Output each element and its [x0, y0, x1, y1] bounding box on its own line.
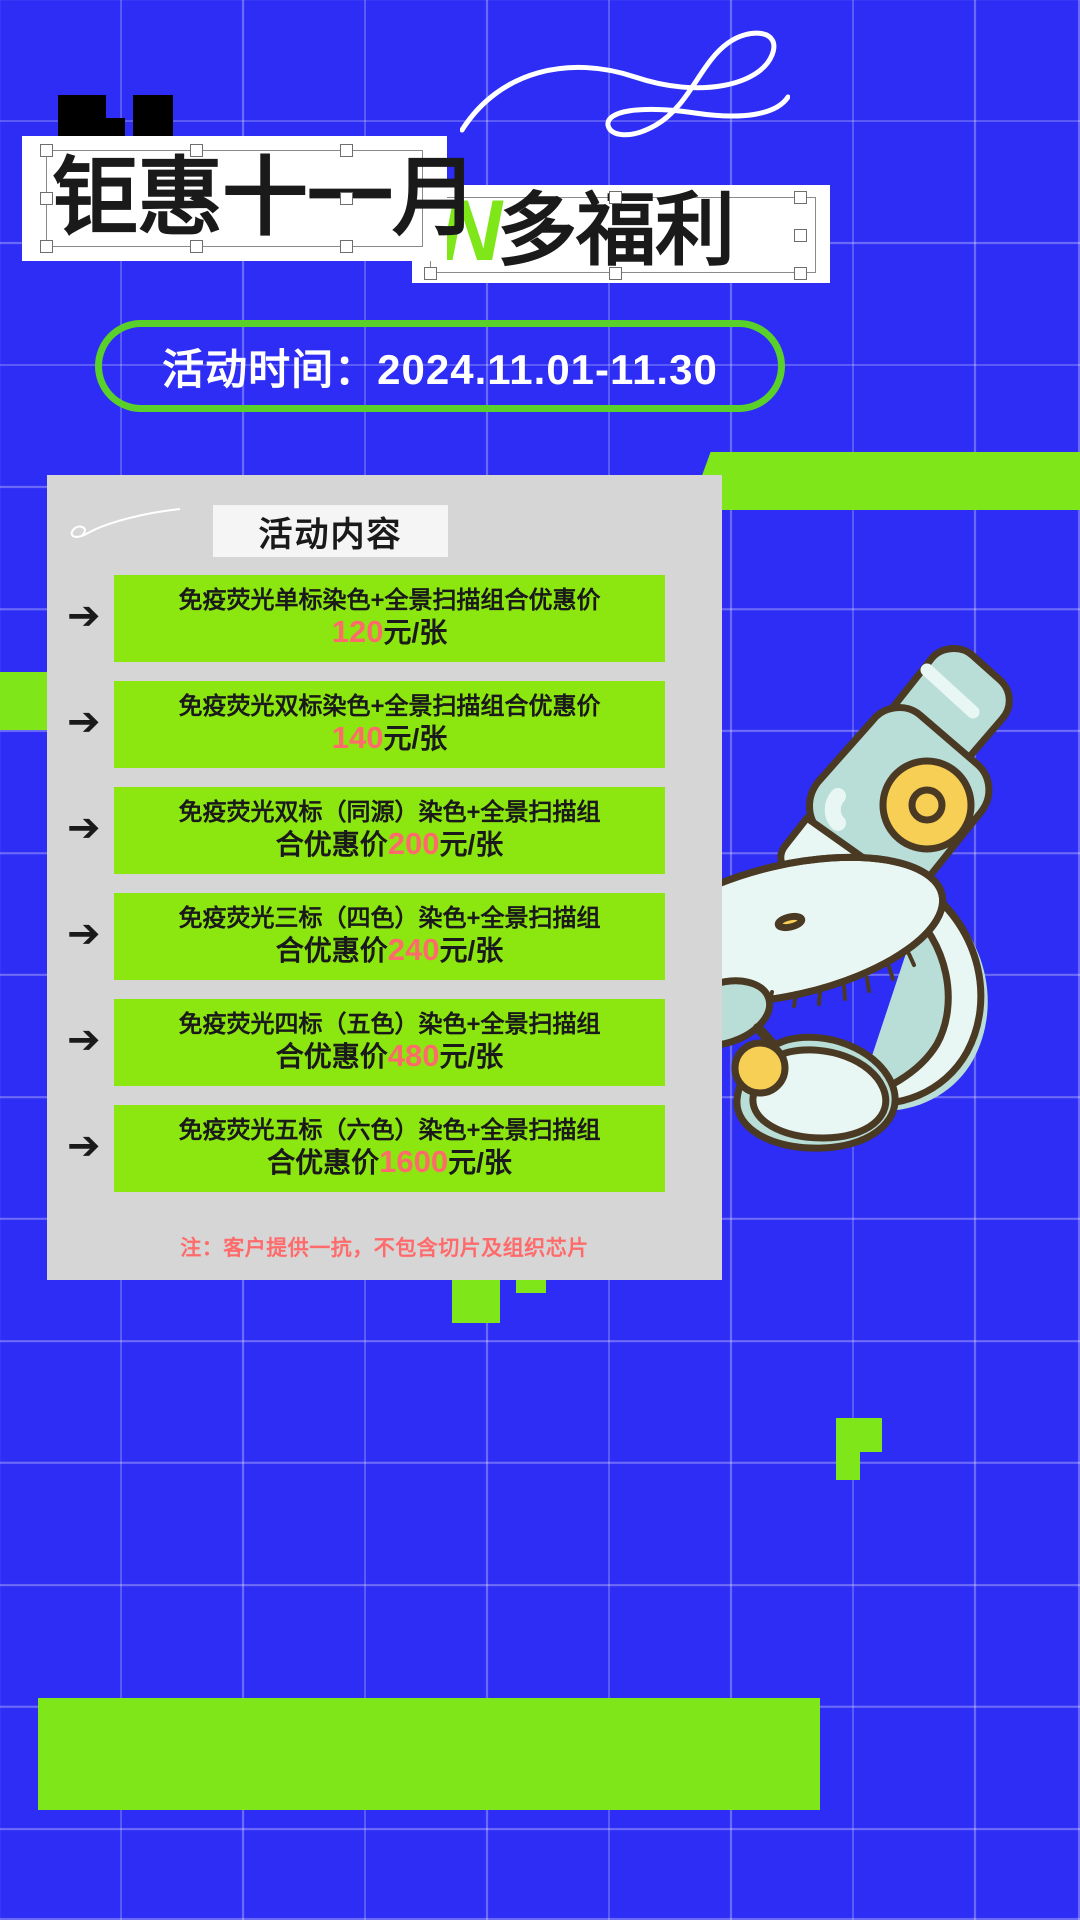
- offer-line1: 免疫荧光三标（四色）染色+全景扫描组: [178, 905, 600, 933]
- arrow-right-icon: ➔: [67, 1135, 111, 1161]
- offer-unit: 元/张: [383, 723, 447, 754]
- offer-pill[interactable]: 免疫荧光五标（六色）染色+全景扫描组 合优惠价1600元/张: [114, 1105, 665, 1192]
- offer-line1: 免疫荧光五标（六色）染色+全景扫描组: [178, 1117, 600, 1145]
- offer-price: 240: [388, 932, 440, 967]
- event-date-banner: 活动时间：2024.11.01-11.30: [95, 320, 785, 412]
- offer-line2: 120元/张: [332, 614, 448, 650]
- selection-handle[interactable]: [190, 144, 203, 157]
- offer-line2: 合优惠价240元/张: [276, 932, 504, 968]
- offer-price: 200: [388, 826, 440, 861]
- offer-line1: 免疫荧光双标（同源）染色+全景扫描组: [178, 799, 600, 827]
- offer-price: 120: [332, 614, 384, 649]
- selection-handle[interactable]: [794, 191, 807, 204]
- selection-handle[interactable]: [794, 229, 807, 242]
- headline-line2-wrap: N多福利: [440, 179, 830, 283]
- selection-handle[interactable]: [424, 267, 437, 280]
- offer-unit: 元/张: [439, 829, 503, 860]
- offer-row[interactable]: ➔ 免疫荧光三标（四色）染色+全景扫描组 合优惠价240元/张: [47, 893, 722, 980]
- green-square-icon: [836, 1418, 882, 1452]
- disclaimer-note: 注：客户提供一抗，不包含切片及组织芯片: [47, 1232, 722, 1262]
- arrow-right-icon: ➔: [67, 605, 111, 631]
- selection-handle[interactable]: [794, 267, 807, 280]
- offer-unit: 元/张: [448, 1147, 512, 1178]
- selection-handle[interactable]: [40, 144, 53, 157]
- arrow-right-icon: ➔: [67, 923, 111, 949]
- arrow-right-icon: ➔: [67, 1029, 111, 1055]
- offer-row[interactable]: ➔ 免疫荧光四标（五色）染色+全景扫描组 合优惠价480元/张: [47, 999, 722, 1086]
- offer-prefix: 合优惠价: [276, 935, 388, 966]
- offer-price: 1600: [379, 1144, 448, 1179]
- selection-handle[interactable]: [609, 267, 622, 280]
- offer-list: ➔ 免疫荧光单标染色+全景扫描组合优惠价 120元/张 ➔ 免疫荧光双标染色+全…: [47, 575, 722, 1211]
- offer-prefix: 合优惠价: [267, 1147, 379, 1178]
- selection-handle[interactable]: [40, 192, 53, 205]
- offer-line2: 合优惠价200元/张: [276, 826, 504, 862]
- offer-price: 140: [332, 720, 384, 755]
- offer-unit: 元/张: [383, 617, 447, 648]
- arrow-right-icon: ➔: [67, 711, 111, 737]
- squiggle-line-icon: [460, 25, 790, 155]
- offer-line2: 合优惠价480元/张: [276, 1038, 504, 1074]
- section-title-box: 活动内容: [213, 505, 448, 557]
- offer-pill[interactable]: 免疫荧光单标染色+全景扫描组合优惠价 120元/张: [114, 575, 665, 662]
- section-title: 活动内容: [259, 507, 403, 556]
- offer-line1: 免疫荧光双标染色+全景扫描组合优惠价: [178, 693, 600, 721]
- green-bar-right: [689, 452, 1080, 510]
- offer-row[interactable]: ➔ 免疫荧光双标（同源）染色+全景扫描组 合优惠价200元/张: [47, 787, 722, 874]
- offer-pill[interactable]: 免疫荧光双标（同源）染色+全景扫描组 合优惠价200元/张: [114, 787, 665, 874]
- selection-handle[interactable]: [340, 240, 353, 253]
- offer-pill[interactable]: 免疫荧光四标（五色）染色+全景扫描组 合优惠价480元/张: [114, 999, 665, 1086]
- poster-canvas: 钜惠十一月 N多福利 活动时间：2024.11.01-11.30: [0, 0, 1080, 1920]
- headline-line1: 钜惠十一月: [52, 134, 447, 261]
- selection-handle[interactable]: [340, 192, 353, 205]
- offer-line2: 140元/张: [332, 720, 448, 756]
- green-square-icon: [836, 1452, 860, 1480]
- offer-line1: 免疫荧光单标染色+全景扫描组合优惠价: [178, 587, 600, 615]
- offer-line2: 合优惠价1600元/张: [267, 1144, 512, 1180]
- bottom-green-bar: [38, 1698, 820, 1810]
- selection-handle[interactable]: [340, 144, 353, 157]
- headline-box-primary: 钜惠十一月: [22, 136, 447, 261]
- offer-row[interactable]: ➔ 免疫荧光单标染色+全景扫描组合优惠价 120元/张: [47, 575, 722, 662]
- event-date-label: 活动时间：2024.11.01-11.30: [162, 336, 718, 397]
- selection-handle[interactable]: [609, 191, 622, 204]
- offer-prefix: 合优惠价: [276, 829, 388, 860]
- offer-row[interactable]: ➔ 免疫荧光双标染色+全景扫描组合优惠价 140元/张: [47, 681, 722, 768]
- squiggle-small-icon: [62, 505, 182, 545]
- offer-line1: 免疫荧光四标（五色）染色+全景扫描组: [178, 1011, 600, 1039]
- offer-row[interactable]: ➔ 免疫荧光五标（六色）染色+全景扫描组 合优惠价1600元/张: [47, 1105, 722, 1192]
- selection-handle[interactable]: [190, 240, 203, 253]
- offer-unit: 元/张: [439, 1041, 503, 1072]
- arrow-right-icon: ➔: [67, 817, 111, 843]
- offer-pill[interactable]: 免疫荧光三标（四色）染色+全景扫描组 合优惠价240元/张: [114, 893, 665, 980]
- offer-unit: 元/张: [439, 935, 503, 966]
- offer-prefix: 合优惠价: [276, 1041, 388, 1072]
- offer-price: 480: [388, 1038, 440, 1073]
- offer-pill[interactable]: 免疫荧光双标染色+全景扫描组合优惠价 140元/张: [114, 681, 665, 768]
- selection-handle[interactable]: [40, 240, 53, 253]
